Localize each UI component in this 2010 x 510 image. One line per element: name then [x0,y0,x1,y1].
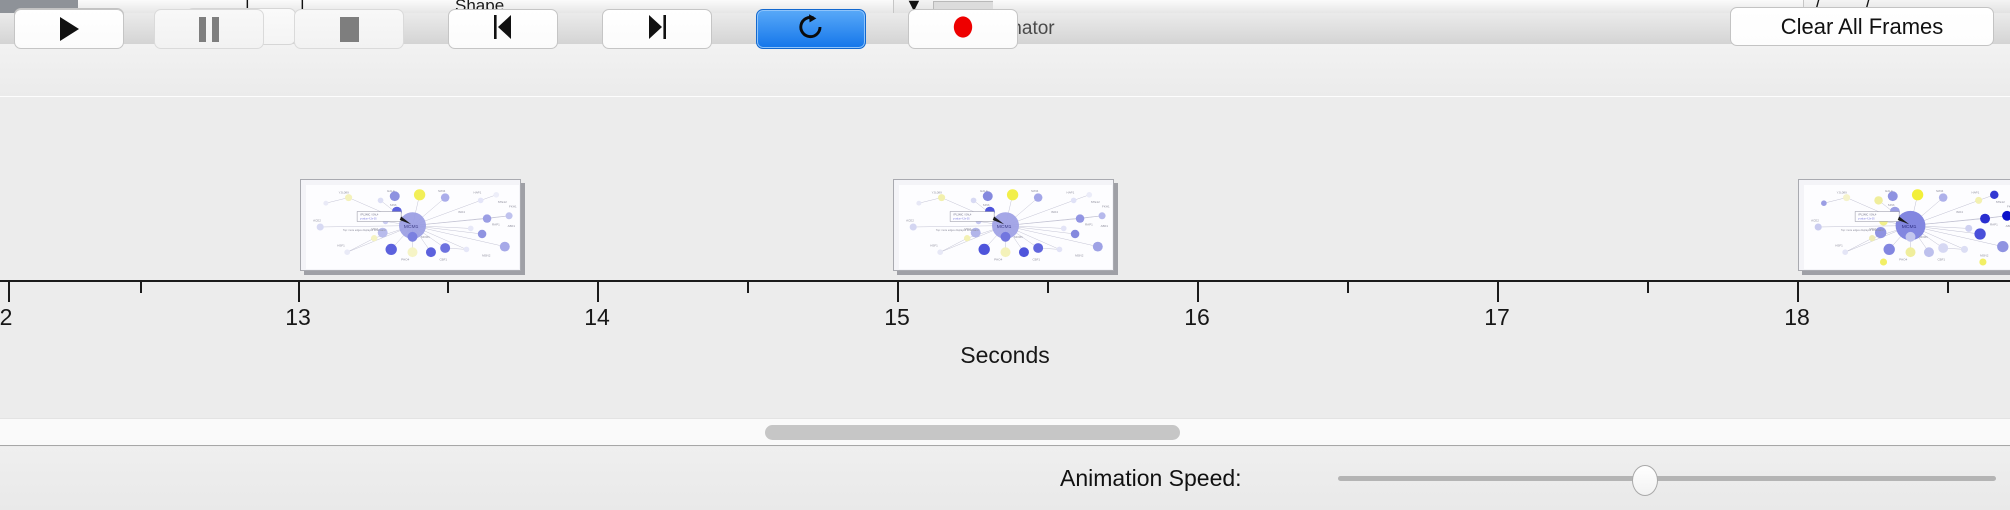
svg-text:ABF1: ABF1 [1101,224,1109,228]
svg-text:SWI4: SWI4 [438,189,446,193]
svg-text:YPL248C / GAL4: YPL248C / GAL4 [360,214,379,217]
axis-tick-major [1197,282,1199,302]
skip-end-button[interactable] [602,9,712,49]
svg-text:MSN2: MSN2 [1075,253,1084,257]
network-graph-preview: YJL089GAL4 SWI4HAP1 STE12FKH1 ACE2SIN3 I… [899,185,1112,269]
axis-tick-label: 14 [584,304,610,331]
axis-tick-major [8,282,10,302]
network-graph-preview: YJL089GAL4 SWI4HAP1 STE12FKH1 ACE2SIN3 I… [1804,185,2010,269]
svg-text:STE12: STE12 [1996,200,2005,204]
axis-title: Seconds [0,342,2010,369]
svg-text:Top: more edges displayed down: Top: more edges displayed downward [936,229,979,232]
svg-text:YJL089: YJL089 [339,190,349,194]
loop-button[interactable] [756,9,866,49]
axis-tick-major [1497,282,1499,302]
axis-tick-minor [1047,282,1049,293]
svg-text:RAP1: RAP1 [1085,223,1093,227]
svg-text:GAL4: GAL4 [1885,189,1893,193]
axis-tick-label: 13 [285,304,311,331]
play-icon [60,17,79,41]
svg-text:PHO4: PHO4 [994,258,1002,262]
axis-tick-major [597,282,599,302]
svg-text:MCM1: MCM1 [1014,235,1023,239]
axis-tick-minor [1347,282,1349,293]
frame-thumbnail[interactable]: YJL089GAL4 SWI4HAP1 STE12FKH1 ACE2SIN3 I… [300,179,525,275]
axis-tick-major [1797,282,1799,302]
pause-button[interactable] [154,9,264,49]
axis-tick-label: 15 [884,304,910,331]
frame-thumbnail[interactable]: YJL089GAL4 SWI4HAP1 STE12FKH1 ACE2SIN3 I… [893,179,1118,275]
svg-text:SIN3: SIN3 [983,203,990,207]
stop-button[interactable] [294,9,404,49]
svg-text:HSF1: HSF1 [1835,244,1843,248]
horizontal-scrollbar-track[interactable] [0,418,2010,446]
svg-text:YPL248C / GAL4: YPL248C / GAL4 [1858,214,1877,217]
svg-text:ACE2: ACE2 [1811,218,1819,222]
svg-text:MSN2: MSN2 [1980,253,1989,257]
svg-text:PHO4: PHO4 [401,258,409,262]
svg-text:FKH1: FKH1 [509,204,517,208]
svg-text:HAP1: HAP1 [474,190,482,194]
svg-text:ACE2: ACE2 [313,218,321,222]
horizontal-scrollbar-thumb[interactable] [765,425,1180,440]
axis-tick-minor [140,282,142,293]
axis-tick-major [897,282,899,302]
svg-text:MCM1: MCM1 [997,224,1012,230]
svg-text:RAP1: RAP1 [1990,223,1998,227]
pause-icon [199,17,219,42]
svg-text:CBF1: CBF1 [439,258,447,262]
svg-text:HSF1: HSF1 [930,244,938,248]
svg-text:Top: more edges displayed down: Top: more edges displayed downward [1841,229,1884,232]
svg-text:MSN2: MSN2 [482,253,491,257]
svg-text:PHO4: PHO4 [1899,258,1907,262]
record-button[interactable] [908,9,1018,49]
svg-text:Top: more edges displayed down: Top: more edges displayed downward [343,229,386,232]
svg-text:MCM1: MCM1 [421,235,430,239]
animation-speed-slider-thumb[interactable] [1632,465,1658,496]
timeline-panel[interactable]: YJL089GAL4 SWI4HAP1 STE12FKH1 ACE2SIN3 I… [0,96,2010,310]
svg-text:GAL4: GAL4 [387,189,395,193]
skip-start-button[interactable] [448,9,558,49]
svg-text:FKH1: FKH1 [1102,204,1110,208]
svg-text:MCM1: MCM1 [404,224,419,230]
svg-text:RAP1: RAP1 [492,223,500,227]
svg-text:STE12: STE12 [1091,200,1100,204]
svg-text:p-value 4.2e-05: p-value 4.2e-05 [360,217,377,220]
toolbar [0,44,2010,97]
stop-icon [340,17,359,42]
timeline-axis [0,280,2010,282]
svg-text:HSF1: HSF1 [337,244,345,248]
svg-text:p-value 4.2e-05: p-value 4.2e-05 [953,217,970,220]
svg-text:ACE2: ACE2 [906,218,914,222]
record-icon [950,14,976,45]
svg-text:SIN3: SIN3 [390,203,397,207]
svg-text:YPL248C / GAL4: YPL248C / GAL4 [953,214,972,217]
svg-text:SIN3: SIN3 [1888,203,1895,207]
skip-to-start-icon [491,14,515,45]
animation-speed-slider[interactable] [1338,476,1996,481]
svg-text:CBF1: CBF1 [1937,258,1945,262]
clear-all-frames-button[interactable]: Clear All Frames [1730,7,1994,46]
svg-text:SWI4: SWI4 [1936,189,1944,193]
skip-to-end-icon [645,14,669,45]
axis-tick-minor [747,282,749,293]
axis-tick-minor [447,282,449,293]
svg-text:MCM1: MCM1 [1919,235,1928,239]
svg-text:INO4: INO4 [1051,210,1058,214]
frame-thumbnail[interactable]: YJL089GAL4 SWI4HAP1 STE12FKH1 ACE2SIN3 I… [1798,179,2010,275]
svg-text:INO4: INO4 [458,210,465,214]
loop-icon [798,13,824,46]
axis-tick-label: 2 [0,304,12,331]
svg-text:ABF1: ABF1 [508,224,516,228]
axis-tick-minor [1947,282,1949,293]
svg-text:INO4: INO4 [1956,210,1963,214]
animation-speed-label: Animation Speed: [1060,447,1242,510]
svg-text:MCM1: MCM1 [1902,224,1917,230]
svg-text:YJL089: YJL089 [932,190,942,194]
axis-tick-minor [1647,282,1649,293]
axis-tick-label: 17 [1484,304,1510,331]
clear-all-frames-label: Clear All Frames [1781,14,1944,40]
svg-text:YJL089: YJL089 [1837,190,1847,194]
play-button[interactable] [14,9,124,49]
network-graph-preview: YJL089GAL4 SWI4HAP1 STE12FKH1 ACE2SIN3 I… [306,185,519,269]
axis-tick-label: 16 [1184,304,1210,331]
axis-tick-label: 18 [1784,304,1810,331]
axis-tick-major [298,282,300,302]
svg-text:SWI4: SWI4 [1031,189,1039,193]
svg-text:HAP1: HAP1 [1972,190,1980,194]
svg-text:CBF1: CBF1 [1032,258,1040,262]
svg-text:GAL4: GAL4 [980,189,988,193]
svg-text:ABF1: ABF1 [2006,224,2010,228]
svg-text:p-value 4.2e-05: p-value 4.2e-05 [1858,217,1875,220]
svg-text:HAP1: HAP1 [1067,190,1075,194]
svg-text:STE12: STE12 [498,200,507,204]
